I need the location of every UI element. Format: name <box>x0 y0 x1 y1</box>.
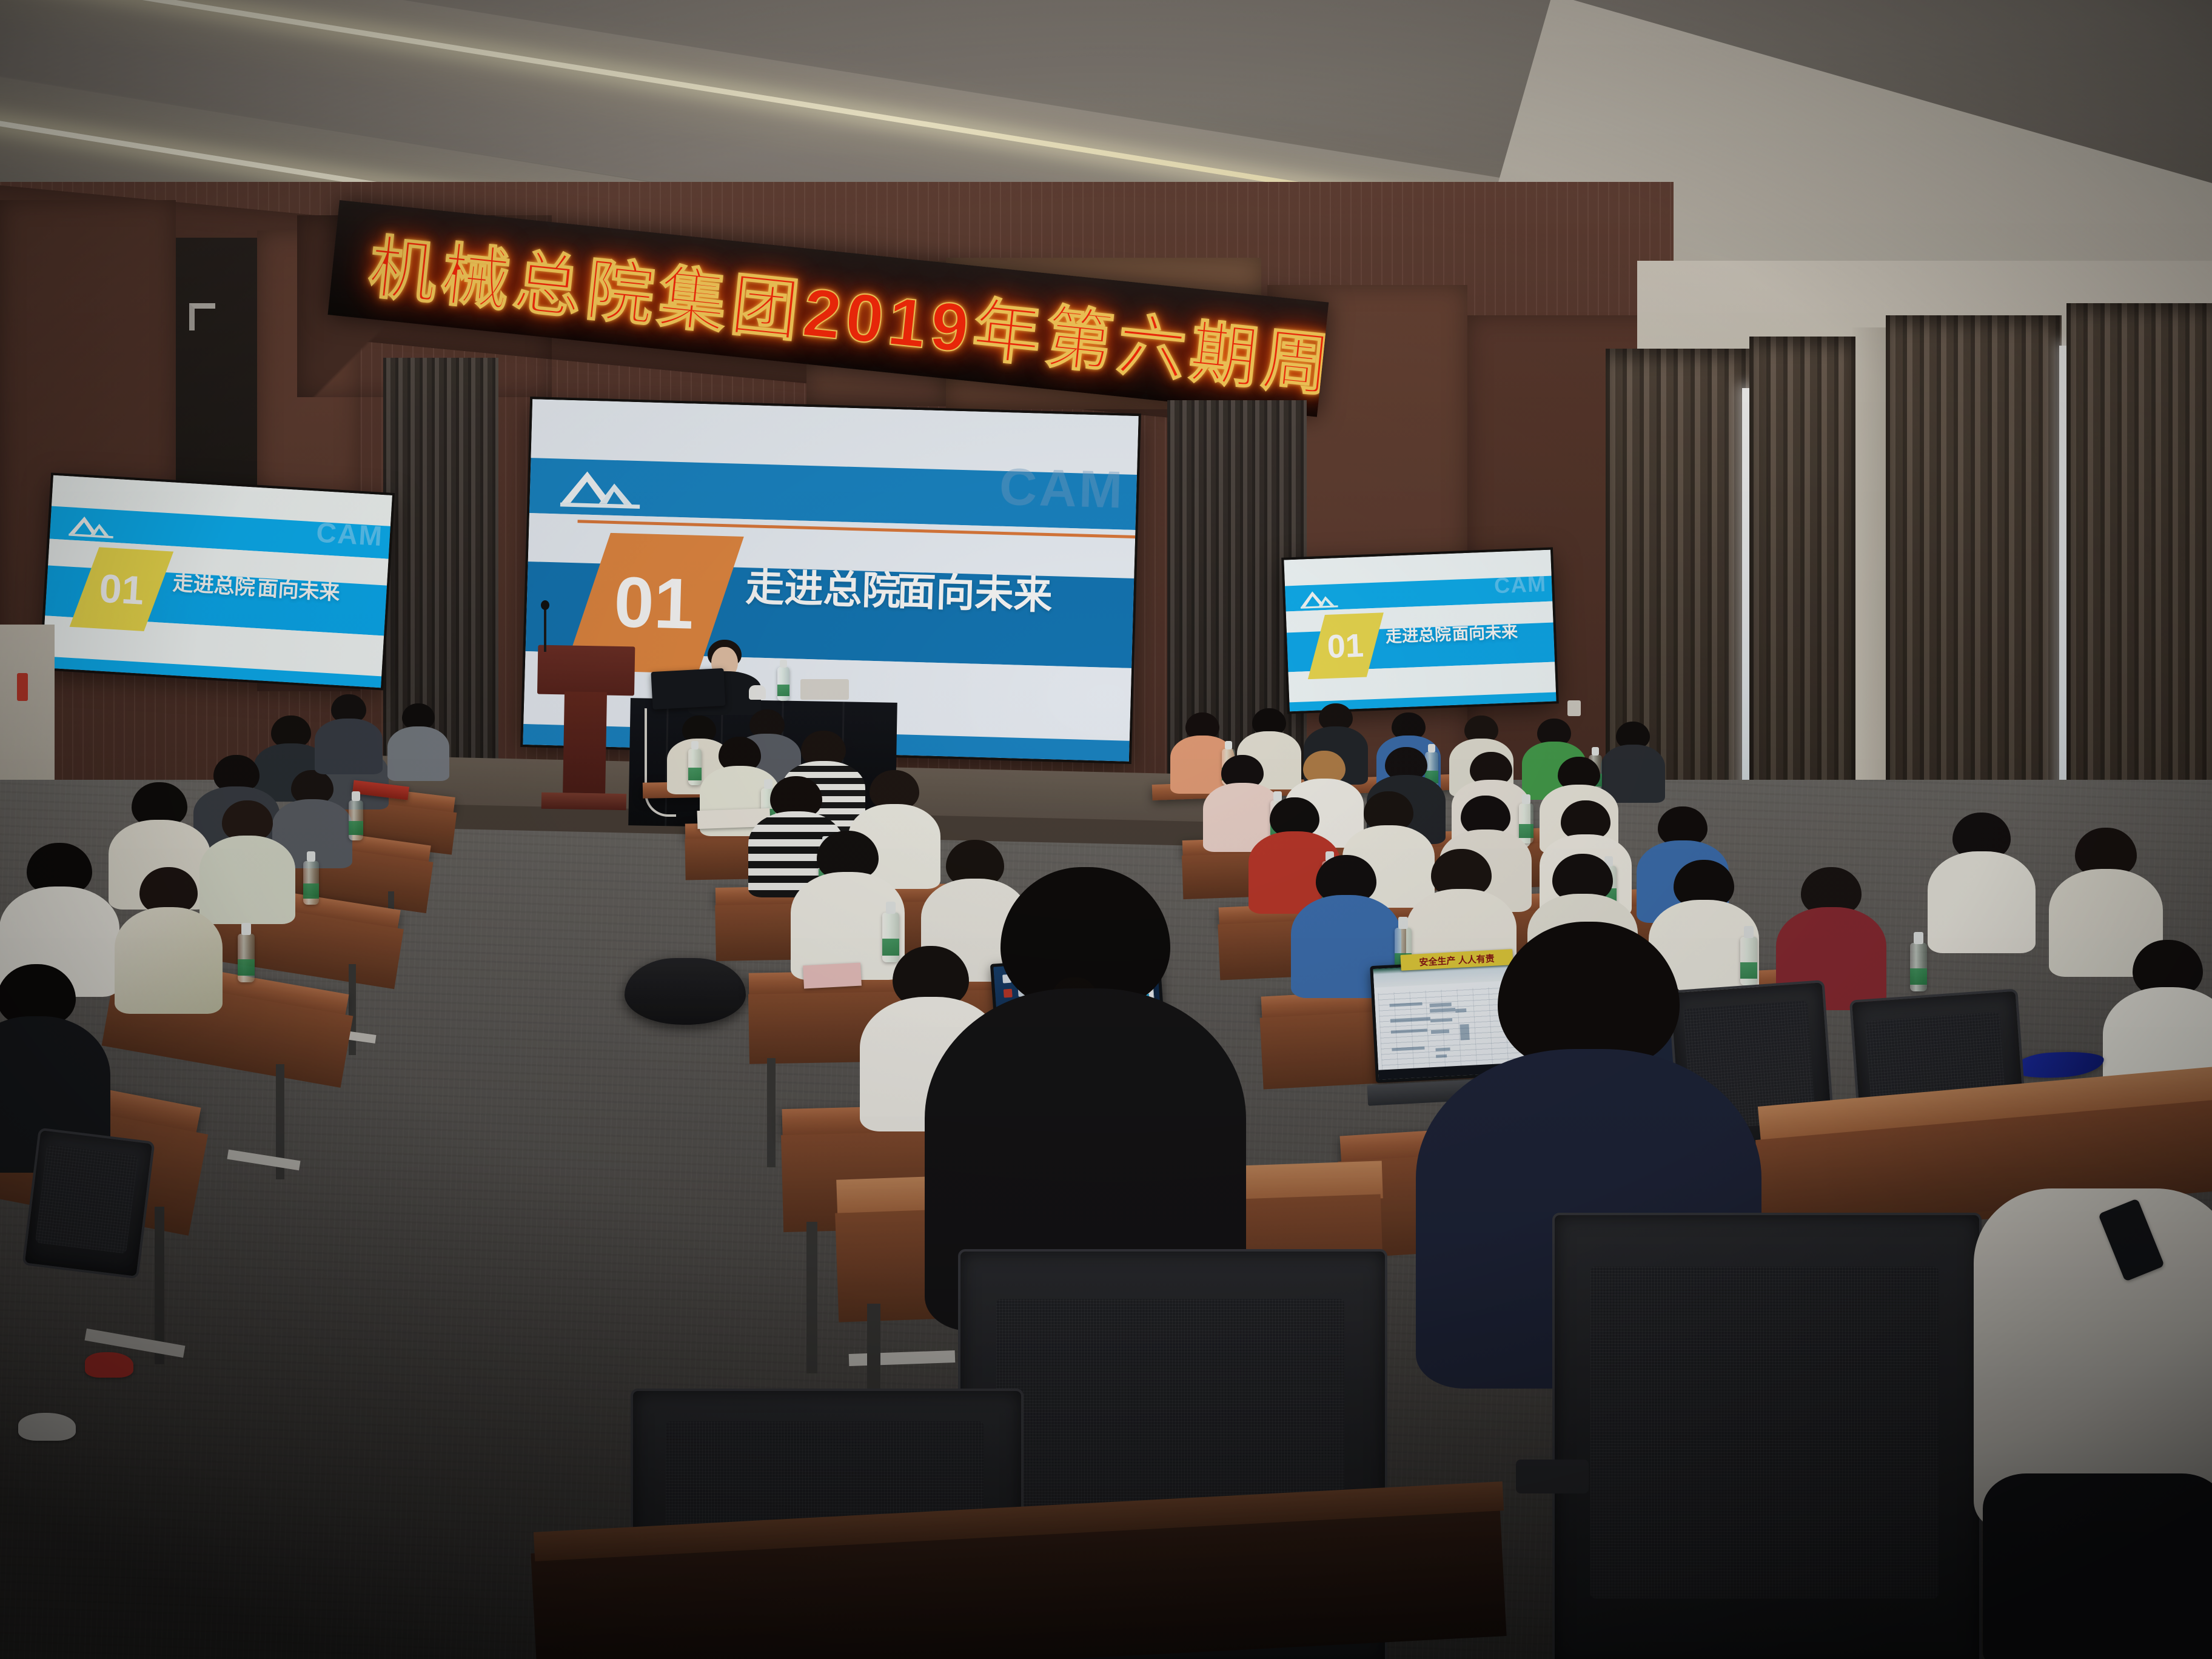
shoe-left-2 <box>18 1413 76 1441</box>
left-wall-monitor: CAM 01 走进总院 面向未来 <box>42 475 392 688</box>
slide-watermark: CAM <box>1493 572 1547 596</box>
foreground-chair-right[interactable] <box>1552 1213 1977 1659</box>
cam-mountain-logo <box>557 464 649 515</box>
left-monitor-slide: CAM 01 走进总院 面向未来 <box>42 475 392 688</box>
audience-left-far-b <box>388 703 449 779</box>
wall-dark-panel-left <box>173 238 258 492</box>
slide-number-text: 01 <box>614 566 695 640</box>
presenter-cup <box>749 685 766 700</box>
slide-title-secondary: 面向未来 <box>257 578 341 603</box>
wall-sensor-right <box>1567 700 1581 716</box>
cam-mountain-logo <box>67 511 119 543</box>
audience-left-far-a <box>315 694 382 773</box>
slide-title-secondary: 面向未来 <box>897 572 1053 615</box>
water-bottle-left-2 <box>238 934 255 982</box>
slide-title-primary: 走进总院 <box>745 568 902 611</box>
slide-title-primary: 走进总院 <box>1386 626 1452 645</box>
water-bottle-center-6 <box>688 749 702 785</box>
foreground-person-far-right <box>1977 1188 2212 1659</box>
podium-column <box>563 691 607 794</box>
podium-top <box>537 645 635 696</box>
slide-title-primary: 走进总院 <box>172 573 256 598</box>
right-wall-monitor: CAM 01 走进总院 面向未来 <box>1284 550 1556 712</box>
slide-number-text: 01 <box>1327 629 1365 663</box>
shoe-left <box>85 1352 133 1378</box>
podium-microphone-stand <box>544 606 546 652</box>
foreground-person-right-hair <box>1498 922 1680 1067</box>
lecture-hall-photo: 机械总院集团2019年第六期周五大讲堂 CAM <box>0 0 2212 1659</box>
chair-left-1 <box>22 1128 150 1274</box>
slide-watermark: CAM <box>999 461 1125 517</box>
pink-paper-center-3 <box>803 963 862 989</box>
water-bottle-left-4 <box>349 800 363 840</box>
right-monitor-slide: CAM 01 走进总院 面向未来 <box>1284 550 1556 712</box>
wooden-podium <box>535 645 635 811</box>
water-bottle-right-3c <box>1910 943 1927 991</box>
microphone-icon <box>541 600 549 610</box>
slide-watermark: CAM <box>315 518 384 549</box>
wall-emergency-marker <box>17 673 28 701</box>
black-backpack-on-floor <box>625 958 746 1025</box>
wall-bracket-icon <box>189 303 215 330</box>
water-bottle-left-3 <box>303 861 319 905</box>
slide-number-text: 01 <box>98 568 145 611</box>
stage-socket-plate <box>800 679 849 700</box>
presenter-water-bottle <box>777 667 789 701</box>
slide-title-secondary: 面向未来 <box>1452 624 1518 643</box>
podium-base <box>541 793 626 810</box>
presenter-laptop <box>651 668 725 709</box>
audience-right-edge-a <box>1928 813 2034 949</box>
cam-mountain-logo <box>1298 586 1342 611</box>
audience-left-2b <box>115 867 221 1013</box>
